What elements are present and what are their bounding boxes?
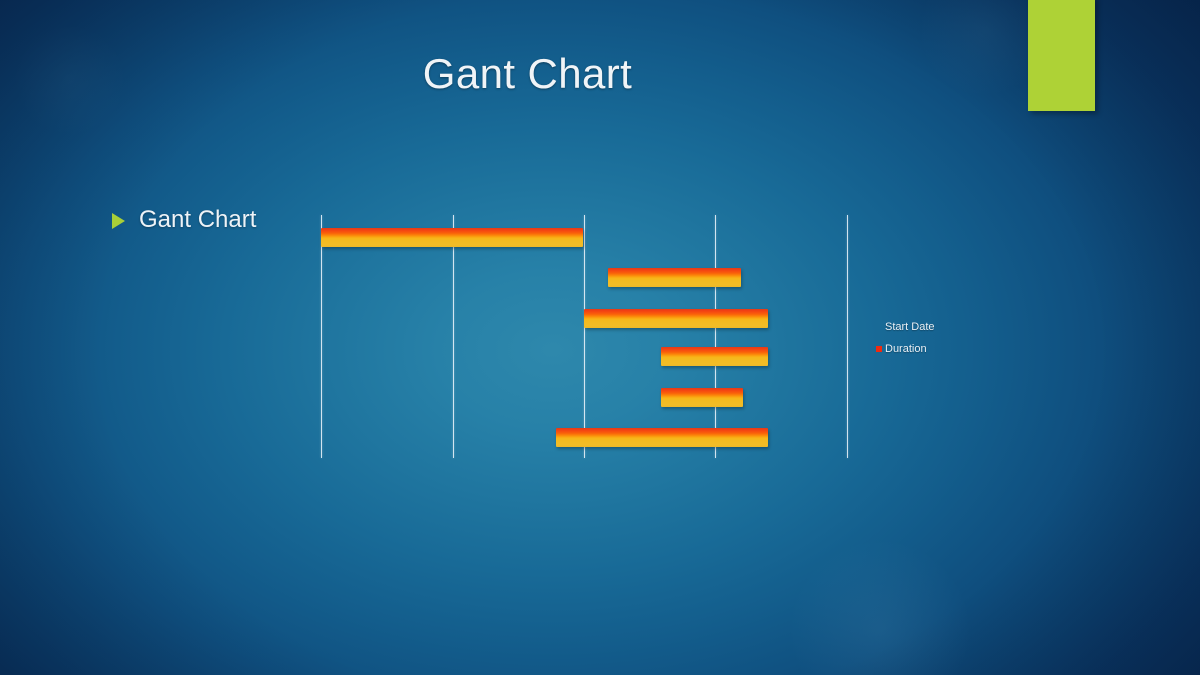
slide: Gant Chart Gant Chart Start Date Duratio… (0, 0, 1200, 675)
triangle-bullet-icon (112, 213, 125, 229)
slide-background (0, 0, 1200, 675)
bullet-item-label: Gant Chart (139, 206, 256, 234)
legend-label-duration: Duration (885, 344, 927, 355)
legend-swatch-duration-icon (876, 346, 882, 352)
legend-swatch-start-date-icon (876, 324, 882, 330)
chart-legend: Start Date Duration (876, 316, 935, 360)
bullet-list-item: Gant Chart (112, 206, 256, 234)
legend-label-start-date: Start Date (885, 322, 935, 333)
page-title: Gant Chart (0, 50, 1055, 98)
legend-item-start-date: Start Date (876, 316, 935, 338)
legend-item-duration: Duration (876, 338, 935, 360)
